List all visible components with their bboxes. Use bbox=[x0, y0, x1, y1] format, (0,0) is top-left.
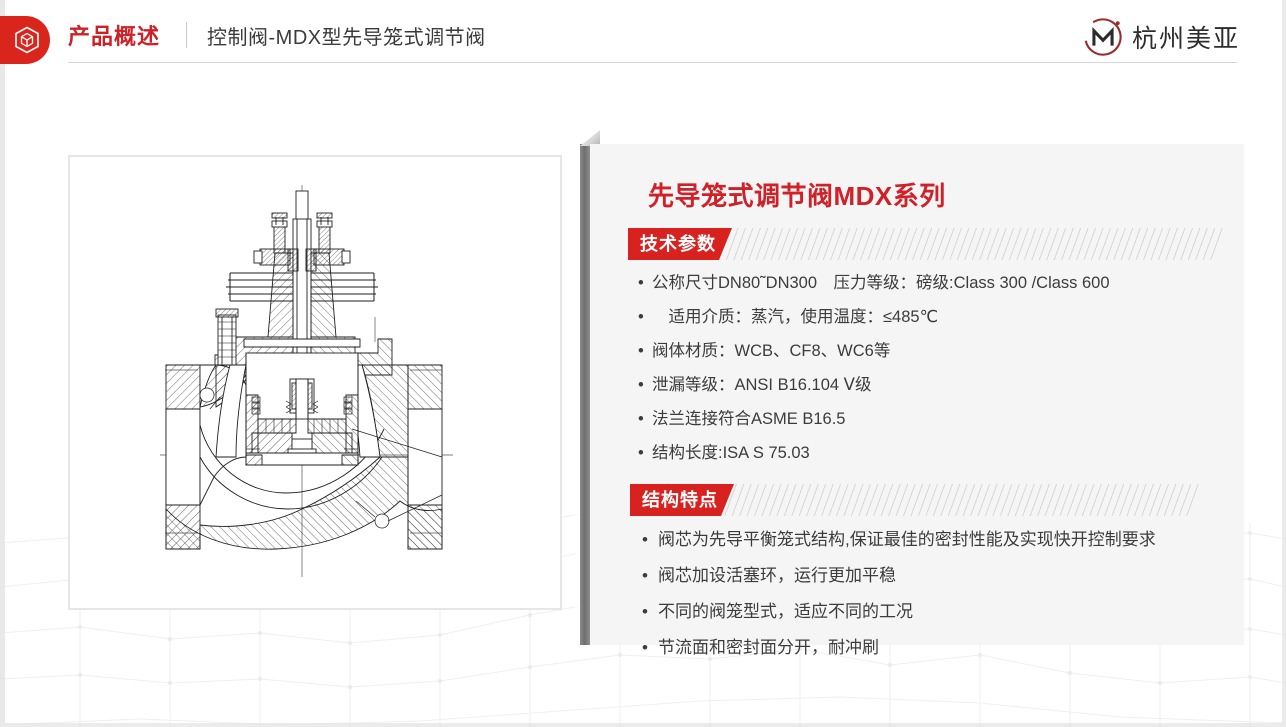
product-series-title: 先导笼式调节阀MDX系列 bbox=[648, 176, 946, 213]
list-item: • 不同的阀笼型式，适应不同的工况 bbox=[642, 594, 1156, 630]
left-edge-strip bbox=[0, 0, 5, 727]
header-badge bbox=[0, 16, 50, 64]
list-item-text: 阀芯为先导平衡笼式结构,保证最佳的密封性能及实现快开控制要求 bbox=[658, 522, 1156, 558]
structural-features-list: • 阀芯为先导平衡笼式结构,保证最佳的密封性能及实现快开控制要求 • 阀芯加设活… bbox=[642, 522, 1156, 666]
list-item-text: 阀芯加设活塞环，运行更加平稳 bbox=[658, 558, 896, 594]
bullet-glyph: • bbox=[638, 334, 652, 368]
list-item-text: 结构长度:ISA S 75.03 bbox=[652, 436, 810, 470]
bullet-glyph: • bbox=[638, 402, 652, 436]
bullet-glyph: • bbox=[638, 266, 652, 300]
bullet-glyph: • bbox=[642, 594, 658, 630]
list-item: • 结构长度:ISA S 75.03 bbox=[638, 436, 1110, 470]
bullet-glyph: • bbox=[638, 436, 652, 470]
list-item-text: 公称尺寸DN80˜DN300 压力等级：磅级:Class 300 /Class … bbox=[652, 266, 1110, 300]
section-hatch-band bbox=[720, 484, 1202, 516]
brand-name: 杭州美亚 bbox=[1132, 19, 1240, 55]
list-item: • 适用介质：蒸汽，使用温度：≤485℃ bbox=[638, 300, 1110, 334]
list-item: • 泄漏等级：ANSI B16.104 Ⅴ级 bbox=[638, 368, 1110, 402]
section-hatch-band bbox=[720, 228, 1226, 260]
list-item: • 节流面和密封面分开，耐冲刷 bbox=[642, 630, 1156, 666]
section-header-technical-parameters: 技术参数 bbox=[628, 228, 1226, 260]
panel-left-spine bbox=[580, 144, 590, 645]
list-item-text: 法兰连接符合ASME B16.5 bbox=[652, 402, 845, 436]
header-rule bbox=[68, 62, 1237, 63]
page-header: 产品概述 控制阀-MDX型先导笼式调节阀 杭州美亚 bbox=[0, 0, 1286, 80]
section-tag-label: 结构特点 bbox=[630, 484, 734, 516]
cube-hexagon-icon bbox=[14, 26, 40, 54]
meiya-m-circle-logo bbox=[1082, 16, 1124, 58]
list-item-text: 节流面和密封面分开，耐冲刷 bbox=[658, 630, 879, 666]
list-item-text: 泄漏等级：ANSI B16.104 Ⅴ级 bbox=[652, 368, 871, 402]
list-item: • 阀芯加设活塞环，运行更加平稳 bbox=[642, 558, 1156, 594]
page-subtitle: 控制阀-MDX型先导笼式调节阀 bbox=[207, 21, 486, 50]
right-edge-strip bbox=[1282, 0, 1286, 727]
technical-parameters-list: • 公称尺寸DN80˜DN300 压力等级：磅级:Class 300 /Clas… bbox=[638, 266, 1110, 470]
globe-control-valve-cross-section-drawing bbox=[70, 157, 560, 608]
list-item-text: 不同的阀笼型式，适应不同的工况 bbox=[658, 594, 913, 630]
list-item-text: 阀体材质：WCB、CF8、WC6等 bbox=[652, 334, 890, 368]
valve-drawing-frame bbox=[68, 155, 562, 610]
brand-logo: 杭州美亚 bbox=[1082, 16, 1240, 58]
bottom-edge-strip bbox=[0, 723, 1286, 727]
bullet-glyph: • bbox=[642, 522, 658, 558]
spec-panel-body: 先导笼式调节阀MDX系列 技术参数 • 公称尺寸DN80˜DN300 压力等级：… bbox=[590, 144, 1244, 645]
list-item: • 阀体材质：WCB、CF8、WC6等 bbox=[638, 334, 1110, 368]
bullet-glyph: • bbox=[642, 558, 658, 594]
section-header-structural-features: 结构特点 bbox=[630, 484, 1202, 516]
bullet-glyph: • bbox=[638, 300, 652, 334]
spec-panel: 先导笼式调节阀MDX系列 技术参数 • 公称尺寸DN80˜DN300 压力等级：… bbox=[572, 130, 1244, 645]
list-item: • 公称尺寸DN80˜DN300 压力等级：磅级:Class 300 /Clas… bbox=[638, 266, 1110, 300]
header-divider bbox=[186, 22, 187, 48]
list-item: • 阀芯为先导平衡笼式结构,保证最佳的密封性能及实现快开控制要求 bbox=[642, 522, 1156, 558]
bullet-glyph: • bbox=[638, 368, 652, 402]
list-item-text: 适用介质：蒸汽，使用温度：≤485℃ bbox=[652, 300, 938, 334]
list-item: • 法兰连接符合ASME B16.5 bbox=[638, 402, 1110, 436]
bullet-glyph: • bbox=[642, 630, 658, 666]
page-title: 产品概述 bbox=[68, 19, 160, 51]
section-tag-label: 技术参数 bbox=[628, 228, 732, 260]
slide-page: 产品概述 控制阀-MDX型先导笼式调节阀 杭州美亚 bbox=[0, 0, 1286, 727]
